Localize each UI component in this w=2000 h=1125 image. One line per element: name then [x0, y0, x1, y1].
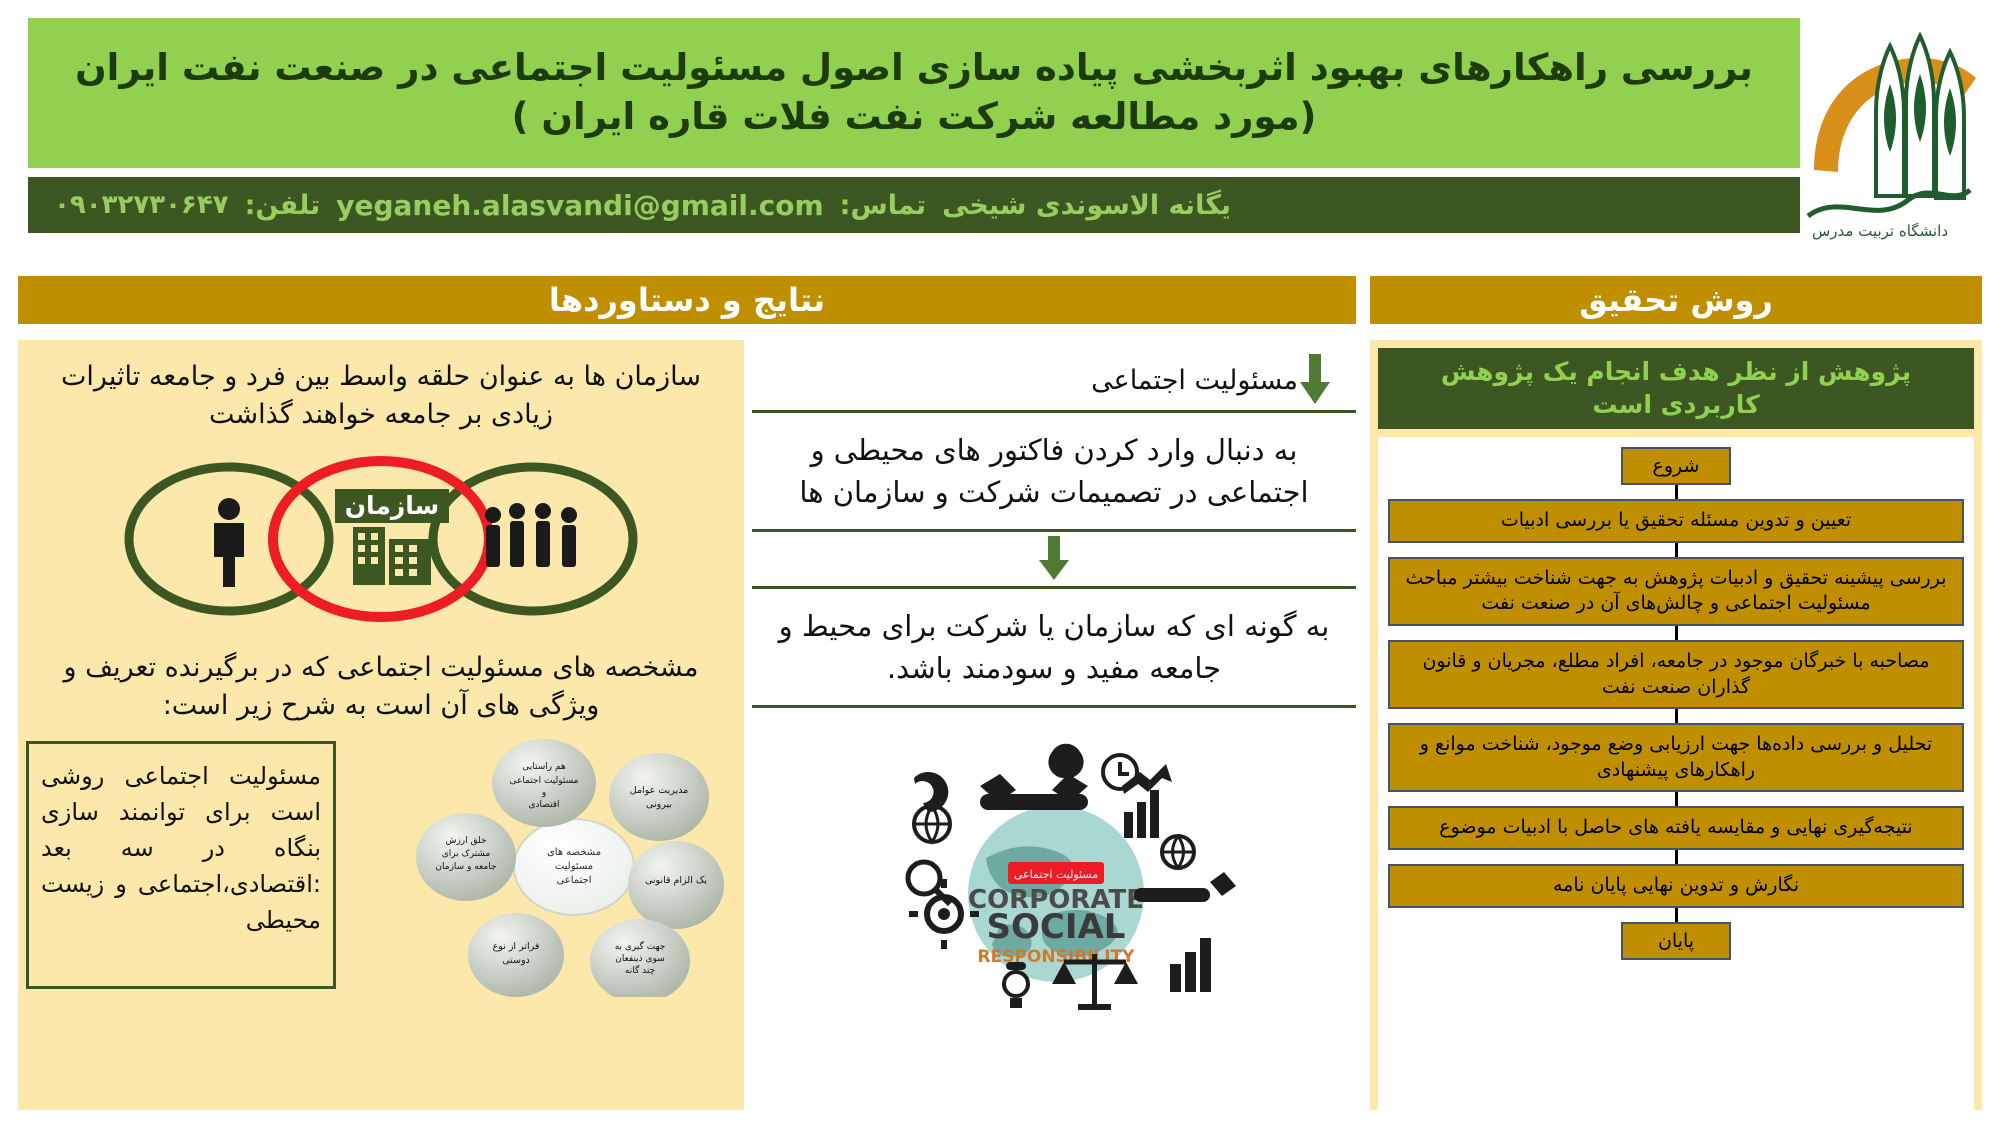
- method-band-label: روش تحقیق: [1579, 281, 1773, 319]
- wheel-node-2: هم راستایی مسئولیت اجتماعی و اقتصادی: [492, 739, 596, 827]
- csr-flow-panel: مسئولیت اجتماعی به دنبال وارد کردن فاکتو…: [752, 340, 1356, 1110]
- contact-label: تماس:: [840, 190, 926, 221]
- bar-chart-icon: [1170, 938, 1211, 992]
- wheel-node-5-line1: جهت گیری به: [615, 940, 666, 952]
- wheel-node-5: جهت گیری به سوی ذینفعان چند گانه: [590, 919, 690, 997]
- wheel-node-2-line4: اقتصادی: [528, 800, 559, 810]
- heart-icon: [1048, 744, 1083, 778]
- wheel-node-1-line2: بیرونی: [646, 799, 672, 810]
- flowchart-step-1: تعیین و تدوین مسئله تحقیق یا بررسی ادبیا…: [1388, 499, 1964, 543]
- venn-svg: سازمان: [101, 441, 661, 636]
- arrow-down-icon: [1298, 354, 1332, 406]
- flow-box-2: به گونه ای که سازمان یا شرکت برای محیط و…: [752, 586, 1356, 708]
- wheel-svg: مشخصه های مسئولیت اجتماعی مدیریت عوامل ب…: [404, 735, 744, 997]
- wheel-node-3: خلق ارزش مشترک برای جامعه و سازمان: [416, 813, 516, 901]
- flowchart-connector: [1675, 908, 1678, 922]
- csr-text-line2: SOCIAL: [987, 907, 1126, 947]
- globe-right-icon: [1162, 836, 1194, 868]
- wheel-center-line3: اجتماعی: [556, 875, 591, 886]
- flowchart-step-4: تحلیل و بررسی داده‌ها جهت ارزیابی وضع مو…: [1388, 723, 1964, 792]
- handshake-right-icon: [1134, 872, 1236, 902]
- flowchart-step-5: نتیجه‌گیری نهایی و مقایسه یافته های حاصل…: [1388, 806, 1964, 850]
- wheel-node-4-text: یک الزام قانونی: [645, 875, 707, 886]
- poster-header: بررسی راهکارهای بهبود اثربخشی پیاده سازی…: [28, 18, 1800, 248]
- flow-arrow-2: [752, 532, 1356, 586]
- people-group-icon: [485, 503, 577, 567]
- flow-box-1: به دنبال وارد کردن فاکتور های محیطی و اج…: [752, 410, 1356, 532]
- method-note: پژوهش از نظر هدف انجام یک پژوهش کاربردی …: [1378, 348, 1974, 429]
- section-header-method: روش تحقیق: [1370, 276, 1982, 324]
- title-band: بررسی راهکارهای بهبود اثربخشی پیاده سازی…: [28, 18, 1800, 168]
- title-line-2: (مورد مطالعه شرکت نفت فلات قاره ایران ): [54, 93, 1774, 142]
- growth-chart-icon: [1122, 764, 1172, 838]
- flowchart-connector: [1675, 626, 1678, 640]
- csr-illustration: CORPORATE SOCIAL RESPONSIBILITY مسئولیت …: [752, 716, 1356, 1016]
- method-flowchart: شروع تعیین و تدوین مسئله تحقیق یا بررسی …: [1378, 437, 1974, 1117]
- flowchart-step-2: بررسی پیشینه تحقیق و ادبیات پژوهش به جهت…: [1388, 557, 1964, 626]
- results-band-label: نتایج و دستاوردها: [549, 281, 825, 319]
- csr-definition-box: مسئولیت اجتماعی روشی است برای توانمند سا…: [26, 741, 336, 989]
- person-lightbulb-icon: [1004, 962, 1028, 1008]
- recycle-icon: [914, 772, 948, 812]
- flow-top-row: مسئولیت اجتماعی: [752, 340, 1356, 410]
- handshake-icon: [980, 774, 1088, 810]
- title-line-1: بررسی راهکارهای بهبود اثربخشی پیاده سازی…: [75, 46, 1753, 89]
- flowchart-connector: [1675, 792, 1678, 806]
- logo-caption: دانشگاه تربیت مدرس: [1812, 222, 1948, 240]
- results-panel: سازمان ها به عنوان حلقه واسط بین فرد و ج…: [18, 340, 744, 1110]
- tarbiat-modares-logo-icon: دانشگاه تربیت مدرس: [1780, 20, 1980, 248]
- wheel-node-4: یک الزام قانونی: [628, 841, 724, 929]
- phone-label: تلفن:: [245, 190, 321, 221]
- flow-top-label: مسئولیت اجتماعی: [776, 365, 1298, 396]
- csr-badge-text: مسئولیت اجتماعی: [1014, 868, 1098, 881]
- wheel-node-2-line3: و: [541, 788, 546, 798]
- university-logo: دانشگاه تربیت مدرس: [1780, 20, 1980, 248]
- wheel-node-6-line1: فراتر از نوع: [493, 941, 540, 952]
- results-lead-paragraph: سازمان ها به عنوان حلقه واسط بین فرد و ج…: [18, 340, 744, 435]
- wheel-node-5-line3: چند گانه: [625, 964, 655, 976]
- single-person-icon: [214, 498, 244, 587]
- flowchart-step-3: مصاحبه با خبرگان موجود در جامعه، افراد م…: [1388, 640, 1964, 709]
- flowchart-connector: [1675, 709, 1678, 723]
- arrow-down-icon: [1037, 536, 1071, 582]
- author-name: یگانه الاسوندی شیخی: [942, 190, 1231, 221]
- flowchart-start-node: شروع: [1621, 447, 1731, 485]
- poster-title: بررسی راهکارهای بهبود اثربخشی پیاده سازی…: [54, 44, 1774, 142]
- contact-phone: ۰۹۰۳۲۷۳۰۶۴۷: [54, 190, 229, 220]
- csr-characteristics-wheel: مشخصه های مسئولیت اجتماعی مدیریت عوامل ب…: [348, 735, 744, 1000]
- buildings-icon: [353, 527, 431, 585]
- wheel-node-3-line3: جامعه و سازمان: [435, 862, 496, 872]
- results-mid-paragraph: مشخصه های مسئولیت اجتماعی که در برگیرنده…: [18, 641, 744, 726]
- poster-root: بررسی راهکارهای بهبود اثربخشی پیاده سازی…: [0, 0, 2000, 1125]
- wheel-node-2-line1: هم راستایی: [522, 762, 566, 772]
- wheel-center-line1: مشخصه های: [547, 847, 601, 858]
- method-panel: پژوهش از نظر هدف انجام یک پژوهش کاربردی …: [1370, 340, 1982, 1110]
- csr-art-svg: CORPORATE SOCIAL RESPONSIBILITY مسئولیت …: [794, 716, 1314, 1012]
- flowchart-connector: [1675, 543, 1678, 557]
- balance-scale-icon: [1052, 954, 1138, 1010]
- venn-diagram: سازمان: [18, 441, 744, 641]
- wheel-node-1: مدیریت عوامل بیرونی: [609, 753, 709, 841]
- flowchart-connector: [1675, 850, 1678, 864]
- flowchart-end-node: پایان: [1621, 922, 1731, 960]
- org-label-text: سازمان: [345, 491, 440, 520]
- wheel-node-3-line1: خلق ارزش: [445, 836, 486, 846]
- wheel-node-5-line2: سوی ذینفعان: [615, 954, 665, 964]
- contact-email[interactable]: yeganeh.alasvandi@gmail.com: [336, 189, 823, 222]
- flowchart-connector: [1675, 485, 1678, 499]
- wheel-node-1-line1: مدیریت عوامل: [630, 785, 688, 796]
- wheel-center-line2: مسئولیت: [555, 861, 593, 872]
- wheel-node-6-line2: دوستی: [502, 955, 530, 966]
- wheel-node-3-line2: مشترک برای: [442, 848, 491, 859]
- wheel-node-2-line2: مسئولیت اجتماعی: [510, 776, 579, 786]
- clock-icon: [1103, 755, 1137, 789]
- section-header-results: نتایج و دستاوردها: [18, 276, 1356, 324]
- contact-band: یگانه الاسوندی شیخی تماس: yeganeh.alasva…: [28, 177, 1800, 233]
- flowchart-step-6: نگارش و تدوین نهایی پایان نامه: [1388, 864, 1964, 908]
- wheel-node-6: فراتر از نوع دوستی: [468, 913, 564, 997]
